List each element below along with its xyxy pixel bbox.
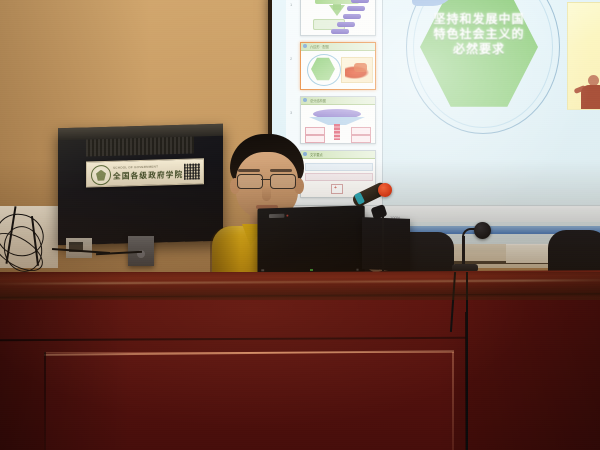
thumb1-purple-box-4 bbox=[337, 22, 355, 27]
slide-number-3: 3 bbox=[290, 110, 292, 115]
wall-shadow-bottom bbox=[0, 160, 600, 300]
slide-thumbnail-2[interactable]: 六边形 · 配图 bbox=[300, 42, 376, 90]
thumb1-purple-box-1 bbox=[351, 0, 369, 3]
slide-right-photo bbox=[567, 2, 600, 110]
thumb3-spine bbox=[334, 124, 340, 140]
thumb1-purple-box-3 bbox=[343, 14, 361, 19]
slide-number-2: 2 bbox=[290, 56, 292, 61]
thumb3-label-right-2 bbox=[351, 135, 371, 143]
thumb2-photo bbox=[341, 57, 373, 83]
slide-hexagon-text: 坚持和发展中国特色社会主义的必然要求 bbox=[424, 12, 534, 57]
slide-number-1: 1 bbox=[290, 2, 292, 7]
slide-thumbnail-1[interactable]: 流程图 · 逐级展开 bbox=[300, 0, 376, 36]
thumb2-photo-blob-2 bbox=[354, 63, 367, 72]
thumb1-purple-box-2 bbox=[347, 6, 365, 11]
thumb1-purple-box-5 bbox=[331, 29, 349, 34]
thumb3-title-text: 总分结构图 bbox=[310, 98, 326, 103]
photo-person-body bbox=[581, 85, 600, 110]
thumb2-title-text: 六边形 · 配图 bbox=[310, 44, 329, 49]
presentation-photo-scene: 流程图 · 逐级展开 1 六边形 · 配图 bbox=[0, 0, 600, 450]
thumb3-label-right bbox=[351, 127, 371, 135]
monitor-vent-grille bbox=[86, 137, 194, 157]
